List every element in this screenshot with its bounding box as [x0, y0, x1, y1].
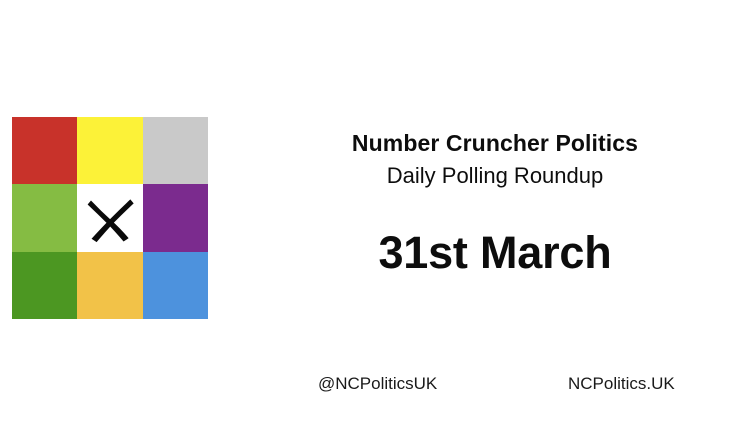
title-block: Number Cruncher Politics Daily Polling R…: [330, 128, 660, 279]
footer: @NCPoliticsUK NCPolitics.UK: [0, 372, 730, 396]
brand-subtitle: Daily Polling Roundup: [330, 161, 660, 191]
slide-canvas: Number Cruncher Politics Daily Polling R…: [0, 0, 730, 430]
brand-title: Number Cruncher Politics: [330, 128, 660, 158]
ballot-x-icon: [82, 189, 138, 247]
logo-cell-top-left: [12, 117, 77, 184]
logo-cell-top-right: [143, 117, 208, 184]
logo-cell-middle-right: [143, 184, 208, 251]
footer-twitter-handle: @NCPoliticsUK: [318, 372, 437, 396]
logo-cell-bottom-center: [77, 252, 142, 319]
number-cruncher-politics-logo: [12, 117, 208, 319]
logo-cell-bottom-right: [143, 252, 208, 319]
logo-cell-top-center: [77, 117, 142, 184]
logo-cell-middle-left: [12, 184, 77, 251]
footer-website: NCPolitics.UK: [568, 372, 675, 396]
slide-date: 31st March: [330, 227, 660, 279]
logo-cell-middle-center: [77, 184, 142, 251]
logo-cell-bottom-left: [12, 252, 77, 319]
